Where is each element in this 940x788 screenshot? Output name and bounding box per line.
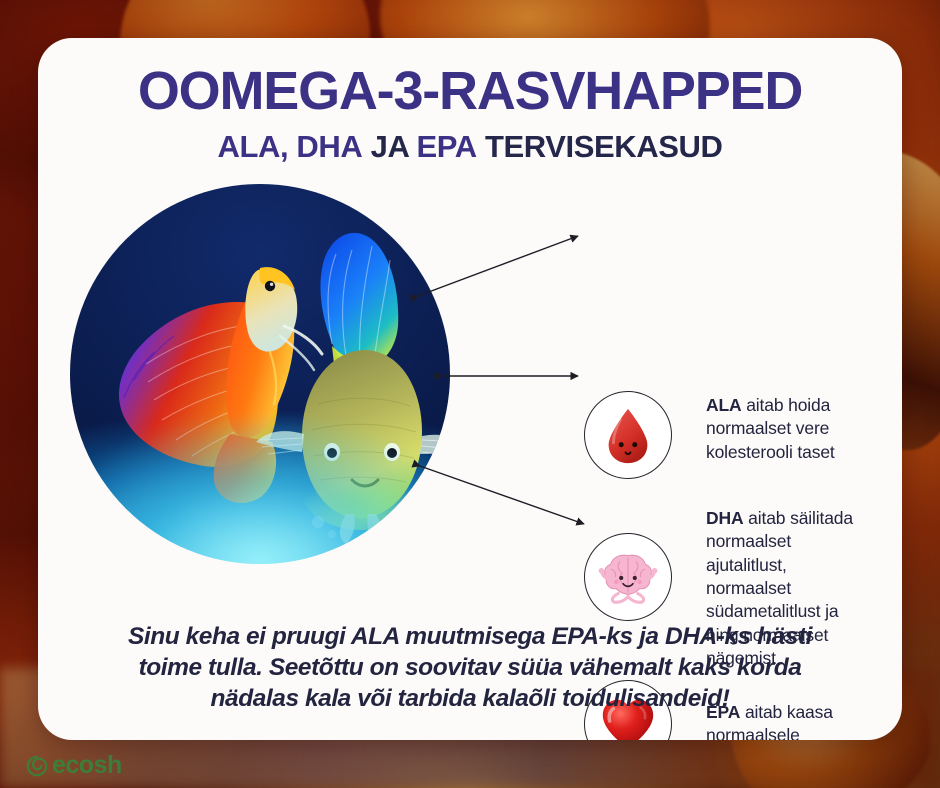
subtitle-part-tervisekasud: TERVISEKASUD — [485, 129, 723, 164]
benefit-dha-line-4: südametalitlust ja — [706, 600, 902, 623]
blood-drop-icon — [597, 404, 659, 466]
fish-photo-circle — [70, 184, 450, 564]
subtitle-part-ja: JA — [371, 129, 409, 164]
benefits-diagram: ALA aitab hoida normaalset vere kolester… — [38, 180, 902, 580]
benefit-dha-label: DHA — [706, 508, 743, 528]
benefit-node-ala[interactable] — [584, 391, 672, 479]
brain-icon — [597, 546, 659, 608]
benefit-node-dha[interactable] — [584, 533, 672, 621]
benefit-ala-line-1: normaalset vere — [706, 417, 902, 440]
benefit-dha-line-2: ajutalitlust, — [706, 554, 902, 577]
footer-note-line-1: Sinu keha ei pruugi ALA muutmisega EPA-k… — [84, 622, 856, 653]
benefit-dha-line-3: normaalset — [706, 577, 902, 600]
spiral-icon — [26, 755, 48, 777]
footer-note: Sinu keha ei pruugi ALA muutmisega EPA-k… — [84, 622, 856, 715]
subtitle-part-epa: EPA — [417, 129, 477, 164]
page-subtitle: ALA, DHA JA EPA TERVISEKASUD — [38, 131, 902, 164]
ecosh-logo[interactable]: ecosh — [26, 753, 122, 778]
benefit-text-ala: ALA aitab hoida normaalset vere kolester… — [706, 394, 902, 464]
benefit-ala-line-2: kolesterooli taset — [706, 441, 902, 464]
logo-text: ecosh — [52, 753, 122, 778]
footer-note-line-2: toime tulla. Seetõttu on soovitav süüa v… — [84, 653, 856, 684]
benefit-dha-lead: aitab säilitada — [743, 508, 852, 528]
benefit-ala-label: ALA — [706, 395, 742, 415]
page-title: OOMEGA-3-RASVHAPPED — [38, 64, 902, 119]
benefit-epa-line-1: normaalsele — [706, 724, 902, 740]
benefit-dha-line-0: DHA aitab säilitada — [706, 507, 902, 530]
benefit-dha-line-1: normaalset — [706, 530, 902, 553]
benefit-ala-line-0: ALA aitab hoida — [706, 394, 902, 417]
water-glow — [70, 419, 450, 563]
benefit-ala-lead: aitab hoida — [742, 395, 831, 415]
subtitle-part-ala-dha: ALA, DHA — [217, 129, 362, 164]
footer-note-line-3: nädalas kala või tarbida kalaõli toiduli… — [84, 684, 856, 715]
infographic-card: OOMEGA-3-RASVHAPPED ALA, DHA JA EPA TERV… — [38, 38, 902, 740]
